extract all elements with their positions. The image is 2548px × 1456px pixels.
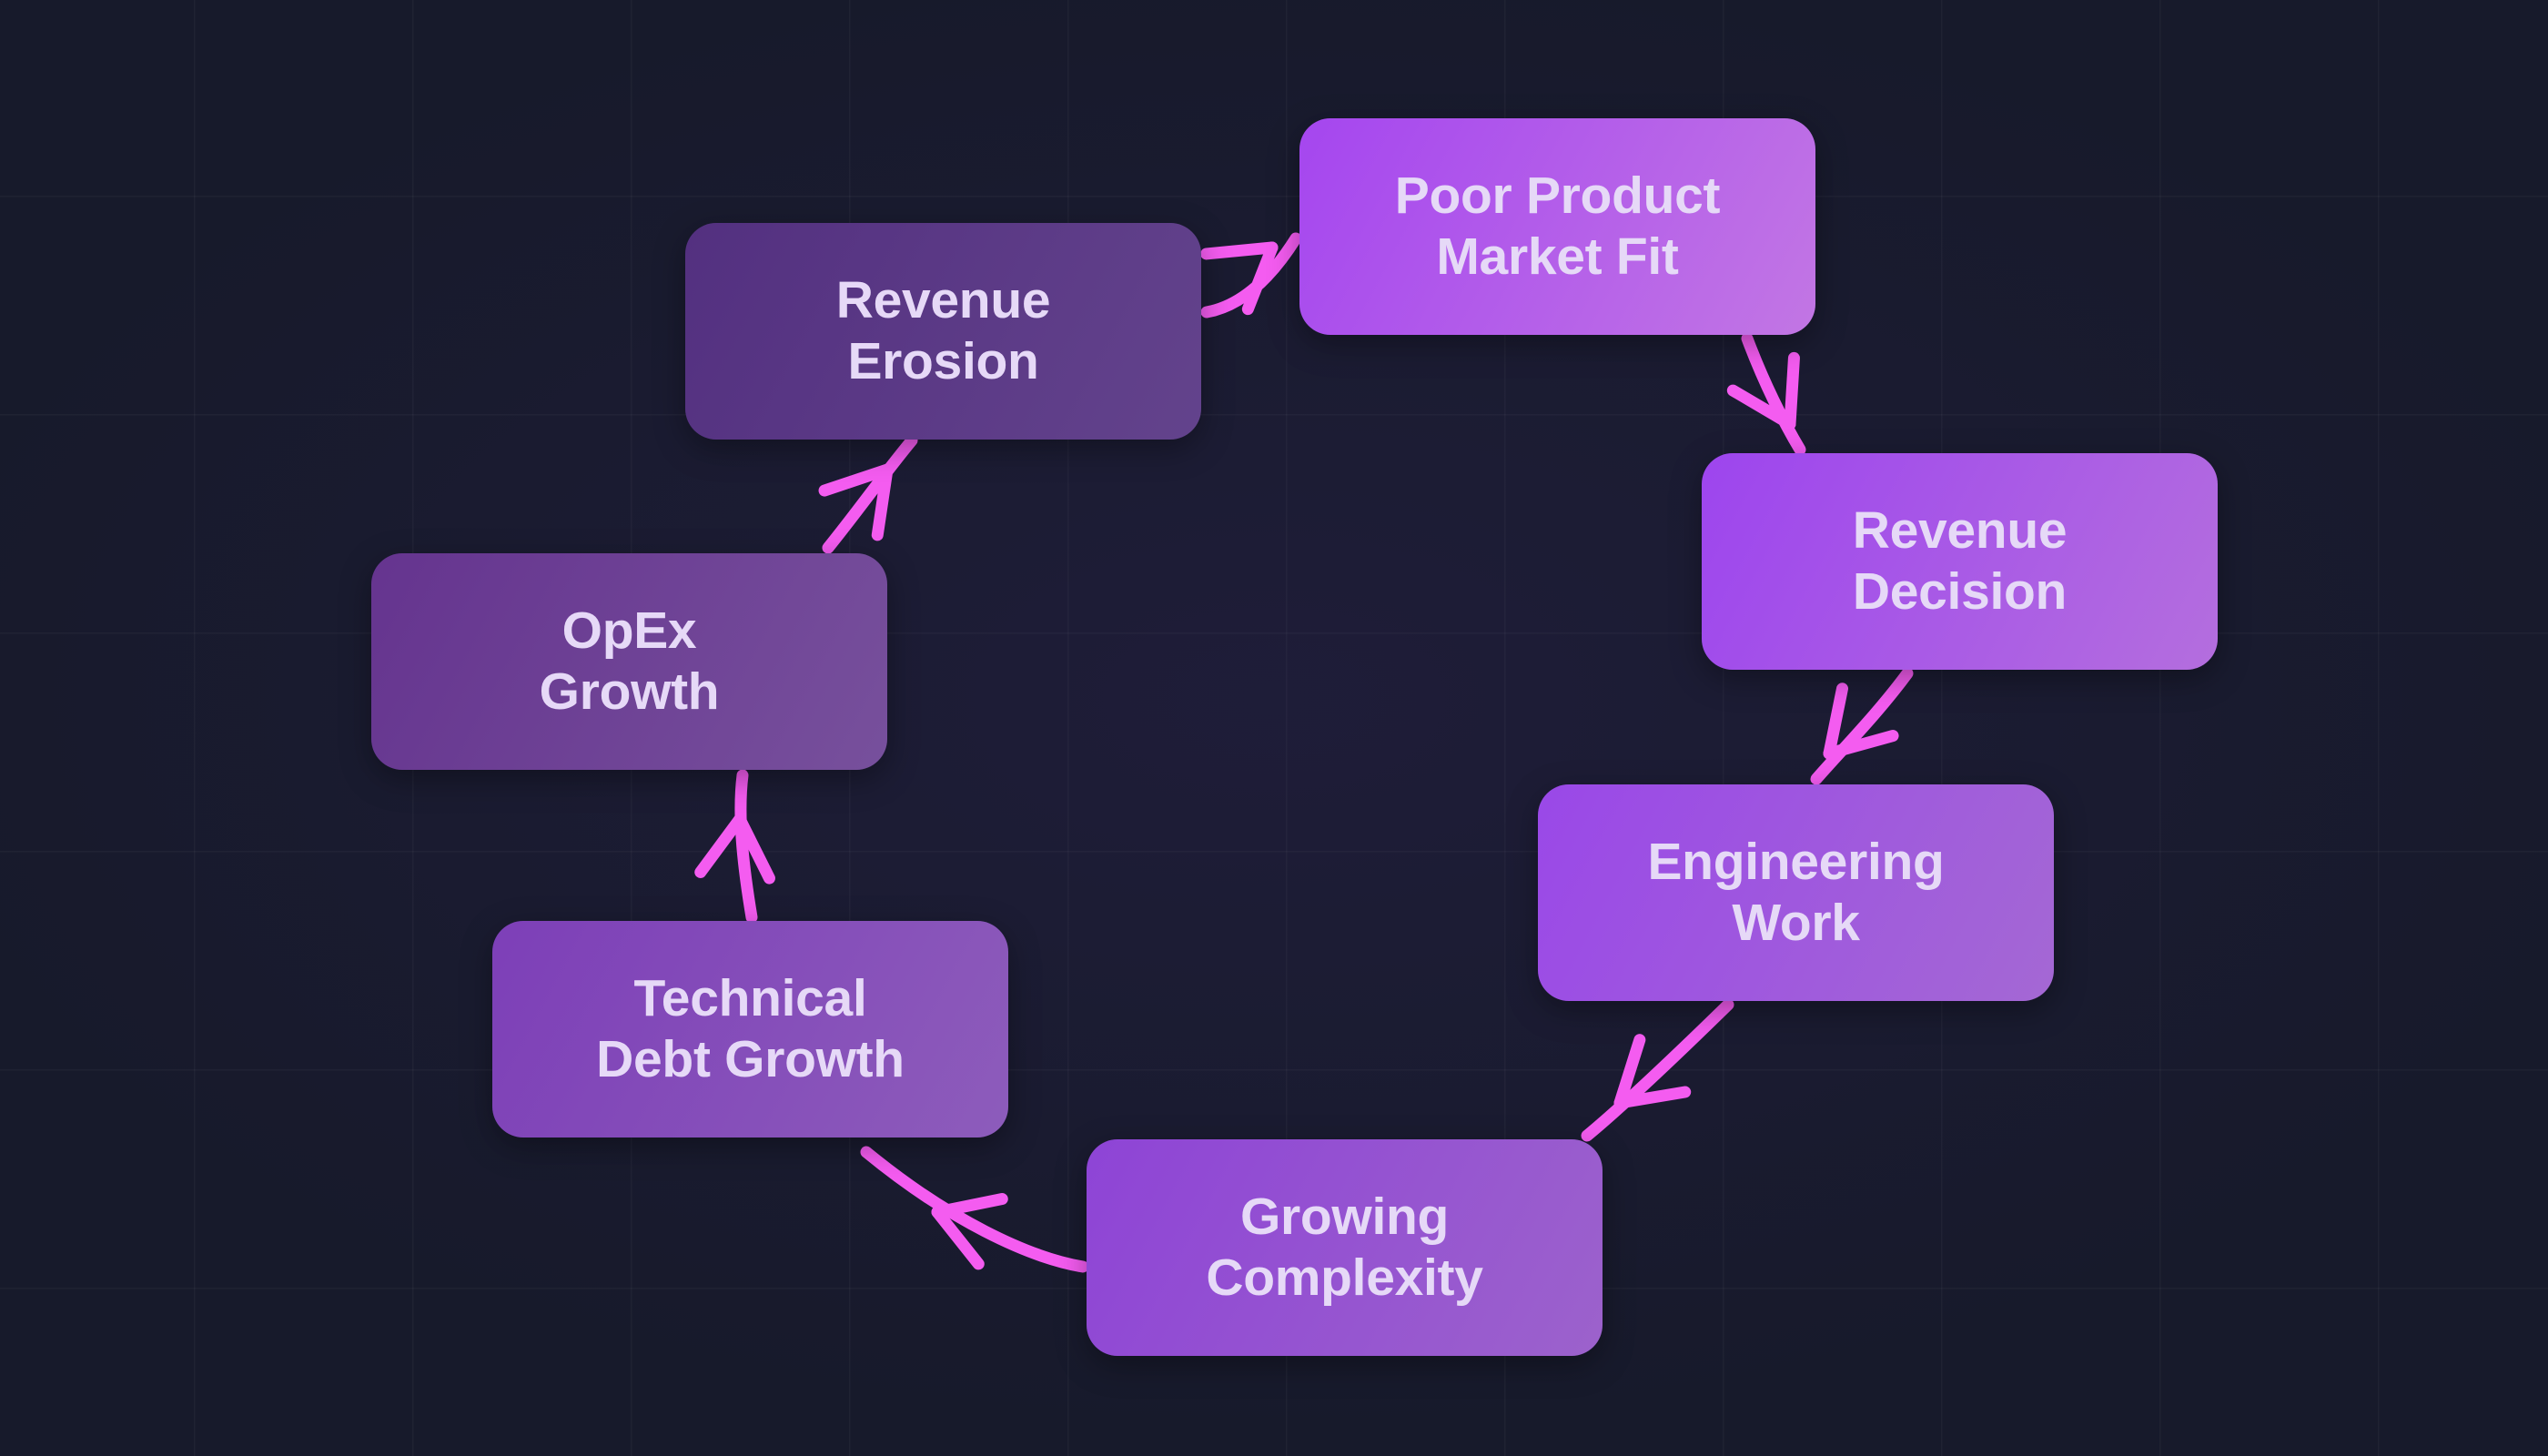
node-growing-complexity[interactable]: Growing Complexity <box>1087 1139 1603 1356</box>
node-poor-product-market-fit[interactable]: Poor Product Market Fit <box>1299 118 1815 335</box>
arrowhead-icon <box>1207 220 1293 309</box>
node-revenue-erosion[interactable]: Revenue Erosion <box>685 223 1201 440</box>
edge-line <box>866 1152 1083 1267</box>
edge-engineering-work-to-growing-complexity <box>1587 1005 1728 1136</box>
edge-technical-debt-growth-to-opex-growth <box>701 775 774 917</box>
node-label: Revenue Erosion <box>836 270 1051 391</box>
edge-line <box>1747 339 1800 450</box>
edge-line <box>828 440 912 548</box>
node-label: Growing Complexity <box>1206 1187 1482 1308</box>
diagram-canvas: Poor Product Market FitRevenue DecisionE… <box>0 0 2548 1456</box>
edge-poor-product-market-fit-to-revenue-decision <box>1733 339 1820 450</box>
edge-opex-growth-to-revenue-erosion <box>824 440 914 548</box>
edge-line <box>1207 238 1296 312</box>
node-label: Poor Product Market Fit <box>1395 166 1720 287</box>
arrowhead-icon <box>1597 1040 1685 1129</box>
arrowhead-icon <box>925 1179 1002 1264</box>
node-label: Technical Debt Growth <box>596 968 905 1089</box>
edge-revenue-decision-to-engineering-work <box>1804 673 1907 779</box>
arrowhead-icon <box>1733 358 1820 440</box>
edge-revenue-erosion-to-poor-product-market-fit <box>1207 220 1296 312</box>
node-revenue-decision[interactable]: Revenue Decision <box>1702 453 2218 670</box>
node-label: Revenue Decision <box>1853 500 2068 622</box>
edge-growing-complexity-to-technical-debt-growth <box>866 1152 1083 1267</box>
edge-line <box>1816 673 1907 779</box>
arrowhead-icon <box>701 816 774 878</box>
node-opex-growth[interactable]: OpEx Growth <box>371 553 887 770</box>
arrowhead-icon <box>1804 689 1893 777</box>
node-engineering-work[interactable]: Engineering Work <box>1538 784 2054 1001</box>
node-label: Engineering Work <box>1647 832 1944 953</box>
node-label: OpEx Growth <box>540 601 720 722</box>
edge-line <box>1587 1005 1728 1136</box>
edge-line <box>741 775 752 917</box>
node-technical-debt-growth[interactable]: Technical Debt Growth <box>492 921 1008 1137</box>
arrowhead-icon <box>824 448 914 535</box>
